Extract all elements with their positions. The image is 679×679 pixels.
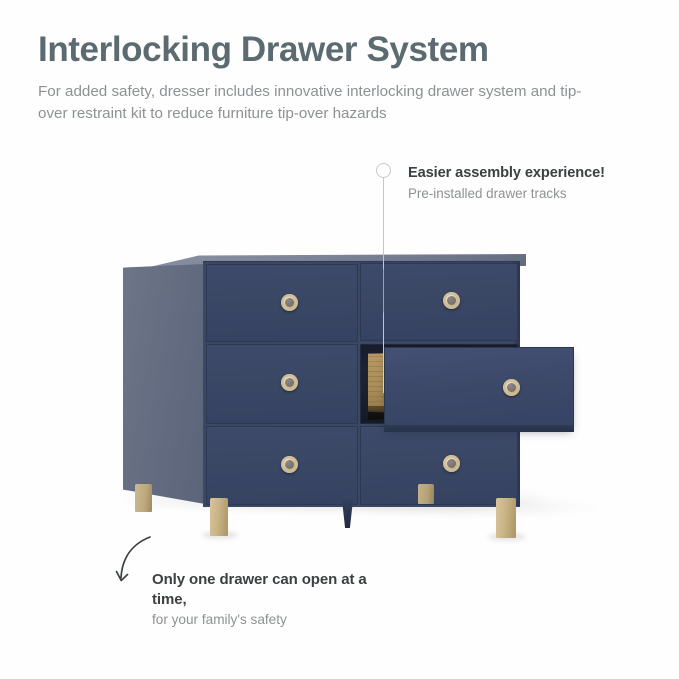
anti-tip-center-bracket — [342, 500, 353, 528]
knob-bottom-right — [443, 455, 460, 472]
leader-ring-marker-icon — [376, 163, 391, 178]
dresser-illustration — [118, 248, 588, 538]
leader-line — [383, 178, 384, 393]
knob-middle-left — [281, 374, 298, 391]
knob-middle-right-open — [503, 379, 520, 396]
callout-safety-subtext: for your family's safety — [152, 611, 382, 629]
leg-back-left — [135, 484, 152, 512]
knob-bottom-left — [281, 456, 298, 473]
infographic-page: Interlocking Drawer System For added saf… — [0, 0, 679, 679]
callout-easier-assembly: Easier assembly experience! Pre-installe… — [408, 164, 638, 203]
callout-safety-headline: Only one drawer can open at a time, — [152, 570, 382, 609]
dresser-left-side-panel — [123, 264, 205, 504]
header: Interlocking Drawer System For added saf… — [38, 30, 638, 124]
curved-arrow-icon — [108, 534, 158, 590]
knob-top-left — [281, 294, 298, 311]
page-subtitle: For added safety, dresser includes innov… — [38, 81, 583, 124]
leg-back-right — [418, 484, 434, 504]
leg-front-left — [210, 498, 228, 536]
drawer-middle-right-open-bottom-edge — [384, 425, 574, 432]
drawer-middle-right-open — [384, 347, 574, 429]
knob-top-right — [443, 292, 460, 309]
callout-assembly-headline: Easier assembly experience! — [408, 164, 638, 182]
page-title: Interlocking Drawer System — [38, 30, 638, 69]
callout-assembly-subtext: Pre-installed drawer tracks — [408, 185, 638, 202]
drawer-bottom-right — [360, 426, 518, 505]
leg-front-right — [496, 498, 516, 538]
callout-one-drawer-safety: Only one drawer can open at a time, for … — [152, 570, 382, 629]
